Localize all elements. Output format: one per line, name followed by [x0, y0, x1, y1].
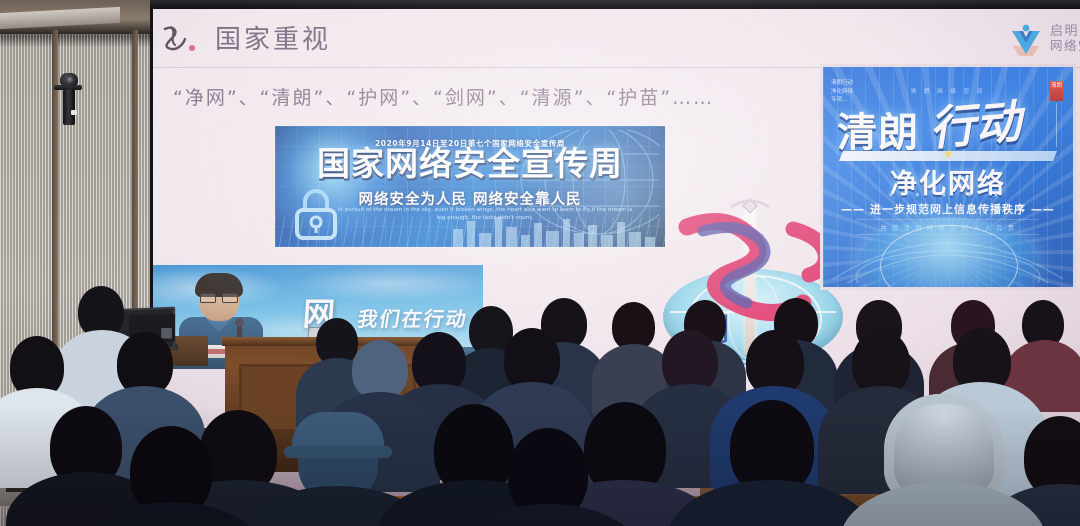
papers-on-table [552, 455, 589, 471]
screenshot-root: 国家重视 启明星辰 网络空间安全 “净网”、“清朗”、“护网”、“ [0, 0, 1080, 526]
poster-title-a: 清朗 [837, 100, 919, 158]
brush-mark-icon [159, 23, 205, 57]
corp-logo-text: 启明星辰 网络空间安全 [1050, 25, 1080, 52]
room-left-wall [0, 0, 150, 526]
glasses-icon [200, 293, 238, 301]
slide-header: 国家重视 启明星辰 网络空间安全 [209, 15, 1080, 65]
press-subline: 我们在行动 [356, 303, 471, 332]
poster-title-b: 行动 [926, 85, 1023, 159]
press-headline: 网 [301, 289, 336, 335]
corp-logo-line2: 网络空间安全 [1050, 39, 1080, 52]
qinglang-poster: 清朗行动 净化网络 专项… 清朗 清 朗 网 络 空 间 清朗 行动 ★ 净化网… [823, 67, 1073, 287]
audience-desk-row [700, 470, 930, 526]
wall-cabinet [0, 448, 72, 506]
jianwang-char-1: 剑 [699, 305, 729, 349]
banner-english-text: In pursuit of the dream in the sky, even… [335, 206, 635, 223]
jianwang-char-2: 网 [777, 305, 807, 349]
lectern-top [222, 337, 433, 346]
v-shield-icon [1009, 22, 1043, 56]
corp-logo-line1: 启明星辰 [1050, 25, 1080, 39]
corp-logo: 启明星辰 网络空间安全 [1009, 17, 1080, 61]
screen-top-bar [150, 0, 1080, 9]
wooden-lectern [225, 342, 430, 472]
jianwang-text: 剑 网 [653, 305, 853, 349]
ptz-camera-icon [58, 73, 80, 125]
presenter-laptop [100, 308, 178, 362]
banner-title: 国家网络安全宣传周 [275, 147, 665, 182]
page-title: 国家重视 [215, 19, 331, 56]
wall-seam [132, 30, 138, 526]
star-icon: ★ [943, 147, 954, 161]
poster-star-row: ★ ★ ★ ★ ★ [823, 191, 1073, 199]
cybersecurity-week-banner: 2020年9月14日至20日第七个国家网络安全宣传周 国家网络安全宣传周 网络安… [275, 126, 665, 247]
poster-arc-decoration [829, 213, 1067, 283]
side-table [640, 448, 670, 526]
